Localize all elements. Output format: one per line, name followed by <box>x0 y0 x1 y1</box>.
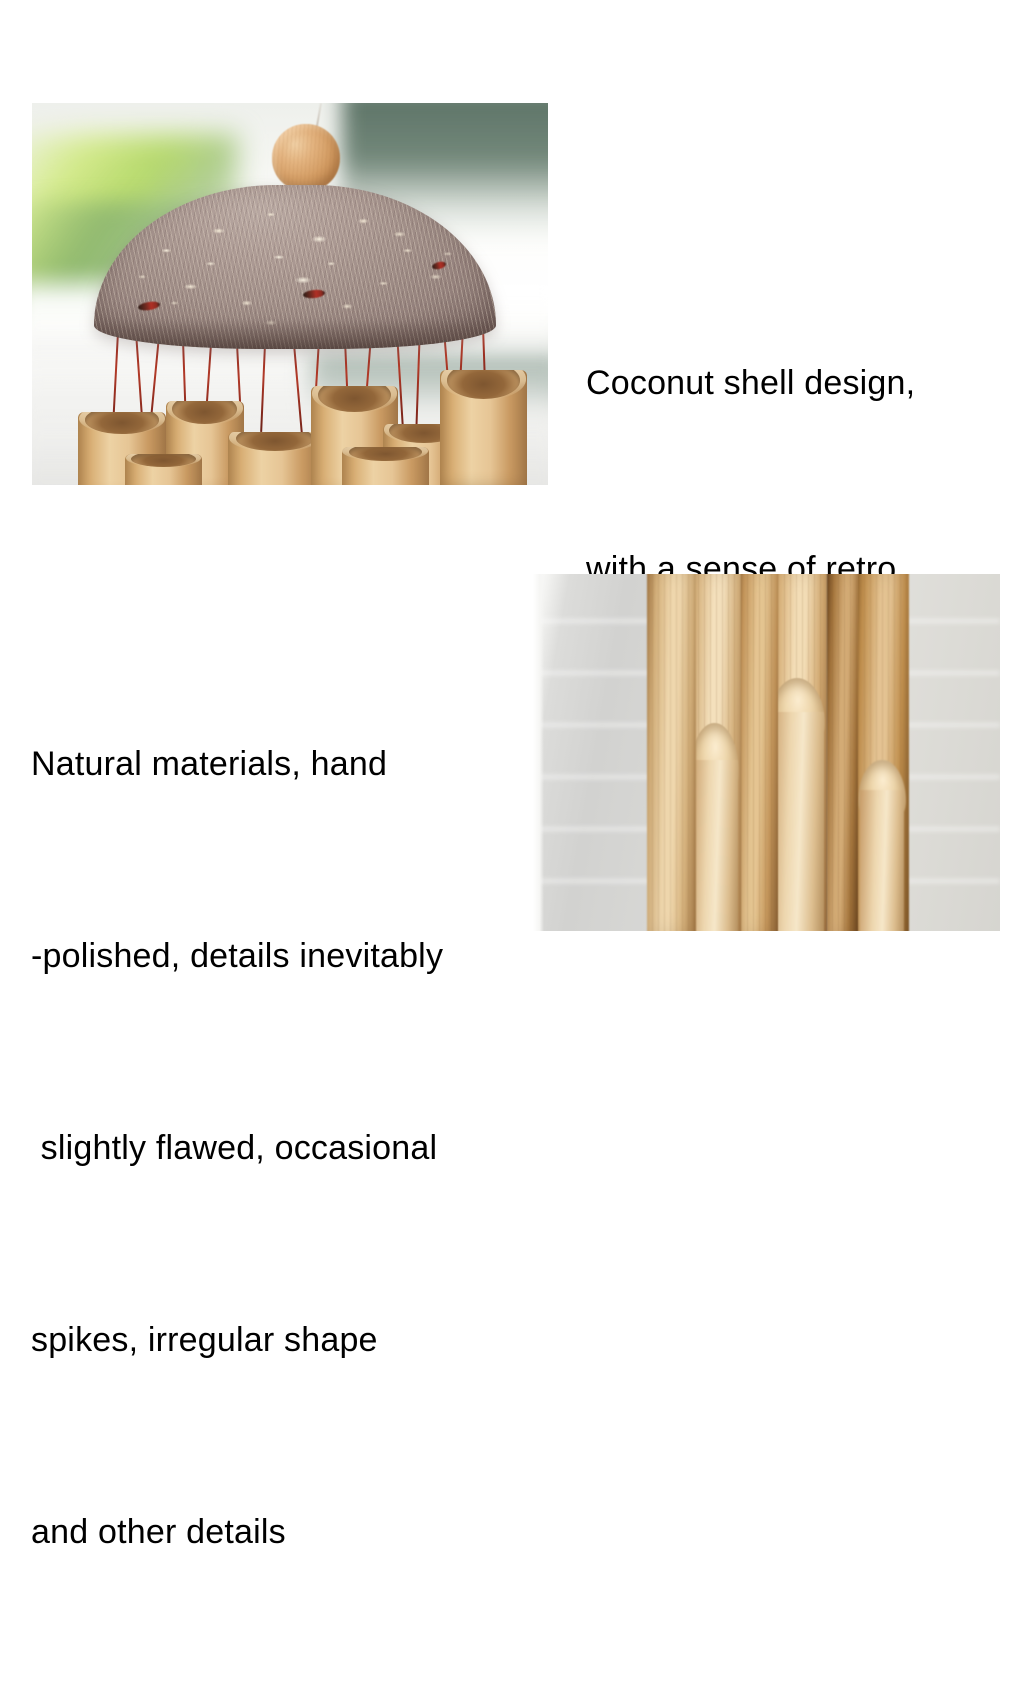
caption-line: -polished, details inevitably <box>31 924 531 988</box>
wooden-bead <box>272 124 339 191</box>
bamboo-grain <box>827 574 857 931</box>
bamboo-tube-closeup <box>827 574 857 931</box>
bamboo-tube-closeup <box>647 574 696 931</box>
dome-rim-shadow <box>94 320 496 350</box>
tube-inner-bore <box>860 790 905 931</box>
caption-line: Natural materials, hand <box>31 732 531 796</box>
photo-frame-bottom <box>533 574 1000 931</box>
bamboo-grain <box>647 574 696 931</box>
natural-materials-caption: Natural materials, hand -polished, detai… <box>31 604 531 1692</box>
caption-line: spikes, irregular shape <box>31 1308 531 1372</box>
photo-frame-top <box>32 103 548 485</box>
bamboo-tube <box>440 370 528 485</box>
bamboo-tube <box>228 432 321 485</box>
wood-grain-texture <box>272 124 339 191</box>
caption-line: Coconut shell design, <box>586 352 1016 414</box>
caption-line: and other details <box>31 1500 531 1564</box>
caption-line: slightly flawed, occasional <box>31 1116 531 1180</box>
infographic-page: Coconut shell design, with a sense of re… <box>0 0 1024 1024</box>
bamboo-tube-closeup <box>736 574 778 931</box>
coconut-shell-dome <box>94 185 496 349</box>
coconut-shell-wind-chime-photo <box>32 103 548 485</box>
bamboo-tube <box>125 454 202 485</box>
bamboo-tube <box>342 447 430 485</box>
bamboo-grain <box>736 574 778 931</box>
bamboo-tubes-closeup-photo <box>533 574 1000 931</box>
photo-left-edge-highlight <box>533 574 544 931</box>
tube-inner-bore <box>691 760 737 931</box>
bamboo-tube-closeup <box>853 574 909 931</box>
